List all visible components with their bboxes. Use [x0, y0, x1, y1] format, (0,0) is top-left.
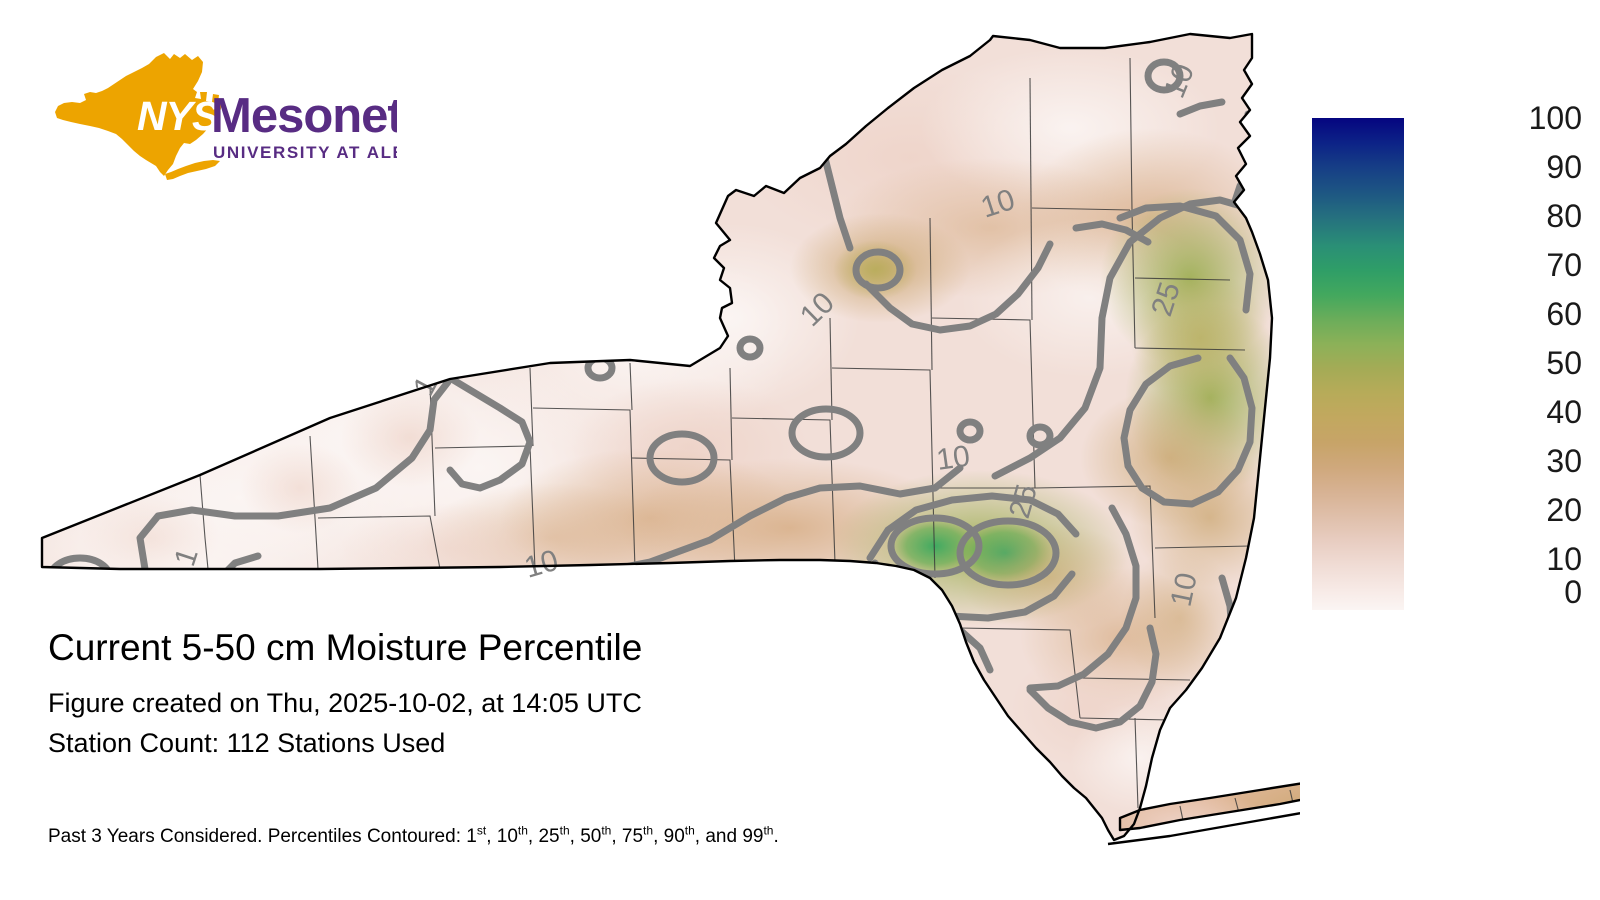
- page-title: Current 5-50 cm Moisture Percentile: [48, 625, 1048, 671]
- colorbar-tick-0: 0: [1432, 576, 1582, 608]
- footnote-percentile-value: 75: [622, 826, 643, 847]
- contour-label: 10: [1165, 570, 1204, 610]
- colorbar-tick-30: 30: [1432, 445, 1582, 477]
- footnote-percentile-value: 1: [466, 826, 477, 847]
- footnote-percentile-value: 10: [497, 826, 518, 847]
- footnote-line: Past 3 Years Considered. Percentiles Con…: [48, 825, 779, 849]
- footnote-percentile-value: 90: [664, 826, 685, 847]
- footnote-percentile-suffix: st: [477, 824, 486, 838]
- figure-created-line: Figure created on Thu, 2025-10-02, at 14…: [48, 683, 1048, 723]
- colorbar-tick-60: 60: [1432, 298, 1582, 330]
- figure-canvas: NYS Mesonet UNIVERSITY AT ALBANY: [0, 0, 1600, 900]
- colorbar-tick-90: 90: [1432, 151, 1582, 183]
- footnote-percentile-suffix: th: [560, 824, 570, 838]
- footnote-percentile-suffix: th: [685, 824, 695, 838]
- station-count-line: Station Count: 112 Stations Used: [48, 723, 1048, 763]
- contour-label: 10: [934, 440, 972, 477]
- colorbar-tick-80: 80: [1432, 200, 1582, 232]
- colorbar-tick-20: 20: [1432, 494, 1582, 526]
- colorbar-tick-70: 70: [1432, 249, 1582, 281]
- footnote-percentile-suffix: th: [763, 824, 773, 838]
- colorbar-gradient: [1312, 118, 1404, 610]
- colorbar-tick-100: 100: [1432, 102, 1582, 134]
- footnote-percentile-suffix: th: [643, 824, 653, 838]
- colorbar-tick-50: 50: [1432, 347, 1582, 379]
- colorbar-tick-40: 40: [1432, 396, 1582, 428]
- footnote-percentile-suffix: th: [518, 824, 528, 838]
- colorbar: 100 90 80 70 60 50 40 30 20 10 0: [1312, 118, 1582, 613]
- footnote-percentile-suffix: th: [601, 824, 611, 838]
- footnote-percentile-value: 25: [538, 826, 559, 847]
- footnote-percentile-list: 1st, 10th, 25th, 50th, 75th, 90th, and 9…: [466, 826, 779, 847]
- footnote-prefix: Past 3 Years Considered. Percentiles Con…: [48, 826, 466, 847]
- footnote-percentile-value: 99: [742, 826, 763, 847]
- footnote-percentile-value: 50: [580, 826, 601, 847]
- colorbar-tick-10: 10: [1432, 543, 1582, 575]
- caption-block: Current 5-50 cm Moisture Percentile Figu…: [48, 625, 1048, 763]
